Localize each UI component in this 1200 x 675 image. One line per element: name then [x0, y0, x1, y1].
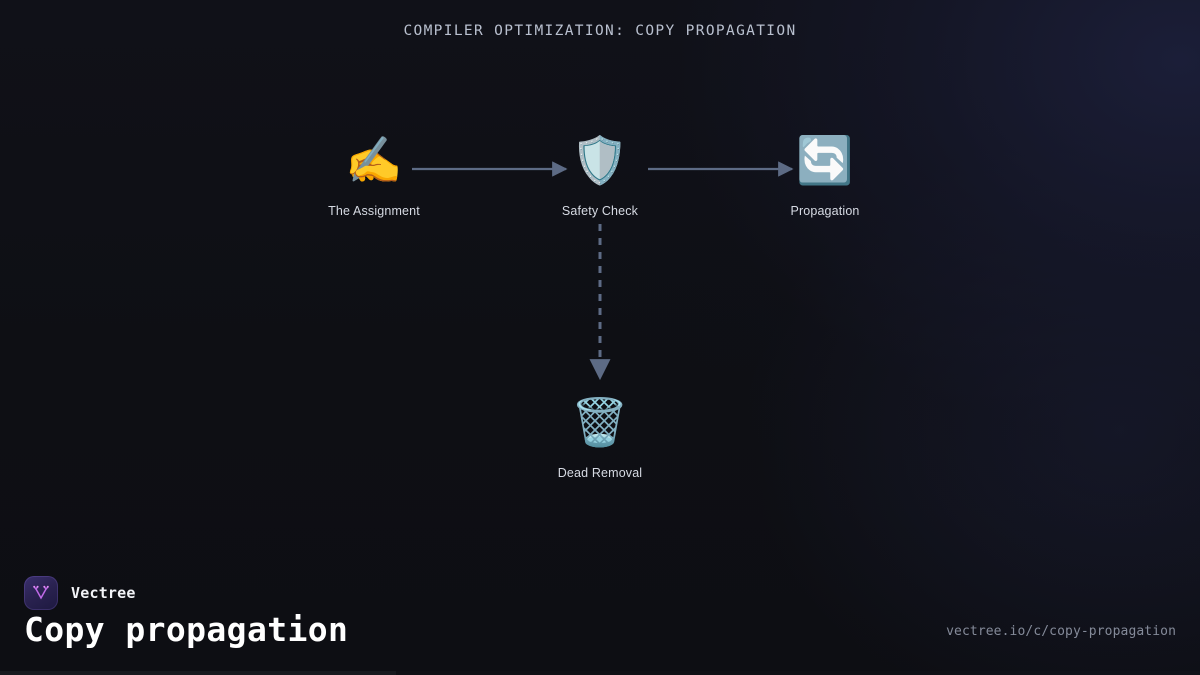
page-title: Copy propagation [24, 610, 348, 649]
node-label-assignment: The Assignment [279, 204, 469, 218]
wastebasket-icon: 🗑️ [505, 392, 695, 452]
brand-row: Vectree [24, 576, 136, 610]
vectree-logo-icon [24, 576, 58, 610]
slide-canvas: COMPILER OPTIMIZATION: COPY PROPAGATION … [0, 0, 1200, 675]
node-safety-check[interactable]: 🛡️ Safety Check [505, 130, 695, 218]
progress-bar-fill [0, 671, 396, 675]
node-dead-removal[interactable]: 🗑️ Dead Removal [505, 392, 695, 480]
progress-bar-track[interactable] [0, 671, 1200, 675]
shield-icon: 🛡️ [505, 130, 695, 190]
brand-name: Vectree [71, 584, 136, 602]
node-label-safety-check: Safety Check [505, 204, 695, 218]
repeat-arrows-icon: 🔄 [730, 130, 920, 190]
node-label-dead-removal: Dead Removal [505, 466, 695, 480]
writing-hand-icon: ✍️ [279, 130, 469, 190]
connector-layer [0, 0, 1200, 675]
node-label-propagation: Propagation [730, 204, 920, 218]
source-url: vectree.io/c/copy-propagation [946, 624, 1176, 639]
node-propagation[interactable]: 🔄 Propagation [730, 130, 920, 218]
flow-diagram: ✍️ The Assignment 🛡️ Safety Check 🔄 Prop… [0, 0, 1200, 675]
node-assignment[interactable]: ✍️ The Assignment [279, 130, 469, 218]
